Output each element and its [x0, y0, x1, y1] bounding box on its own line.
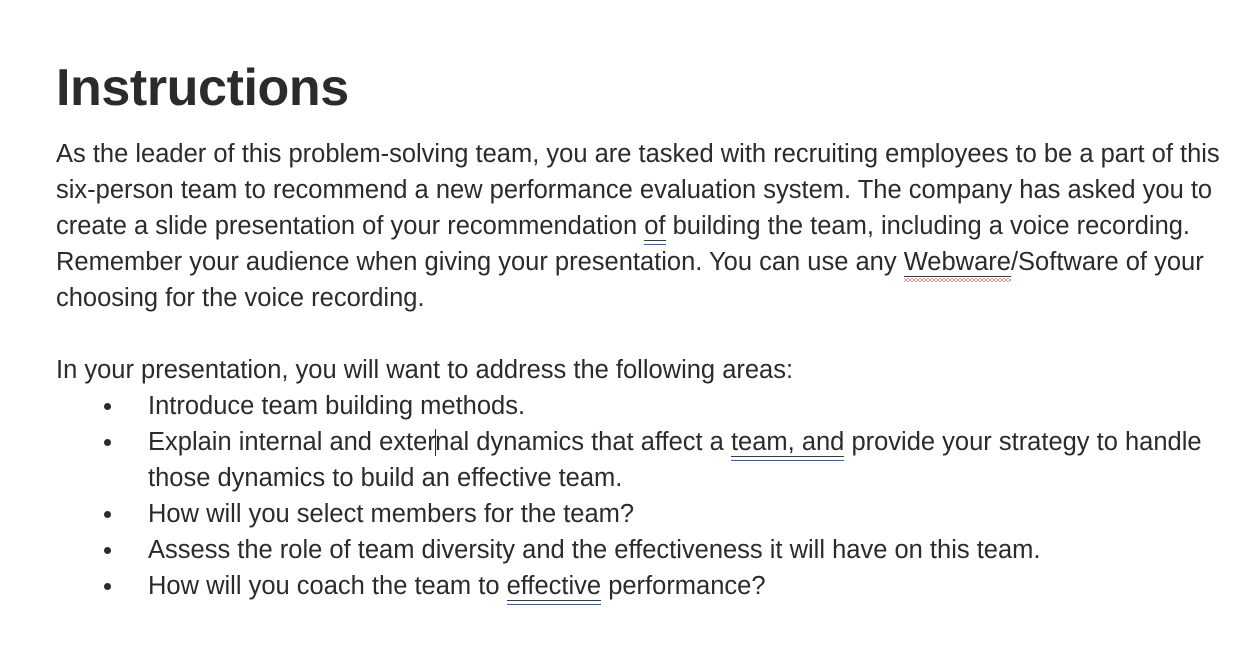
document-page: Instructions As the leader of this probl… — [0, 0, 1253, 651]
bullet-disc-icon — [104, 511, 111, 518]
list-item[interactable]: Explain internal and external dynamics t… — [56, 424, 1236, 496]
list-item-text-part-2: performance? — [601, 572, 765, 600]
bullet-disc-icon — [104, 439, 111, 446]
list-item[interactable]: Assess the role of team diversity and th… — [56, 532, 1236, 568]
document-body[interactable]: As the leader of this problem-solving te… — [56, 136, 1236, 604]
list-item-text: Introduce team building methods. — [148, 392, 525, 420]
spellcheck-marked-word-webware[interactable]: Webware — [904, 248, 1011, 277]
bullet-disc-icon — [104, 547, 111, 554]
bullet-disc-icon — [104, 403, 111, 410]
paragraph-spacer — [56, 316, 1236, 352]
list-item[interactable]: Introduce team building methods. — [56, 388, 1236, 424]
list-item-text: How will you select members for the team… — [148, 500, 634, 528]
lead-in-paragraph[interactable]: In your presentation, you will want to a… — [56, 352, 1236, 388]
list-item-text-part-2: nal dynamics that affect a — [435, 428, 731, 456]
list-item-text-part-1: How will you coach the team to — [148, 572, 507, 600]
intro-paragraph[interactable]: As the leader of this problem-solving te… — [56, 136, 1236, 316]
grammar-marked-word-effective[interactable]: effective — [507, 572, 602, 601]
grammar-marked-phrase-team-and[interactable]: team, and — [731, 428, 844, 457]
page-title: Instructions — [56, 58, 349, 118]
instructions-bullet-list[interactable]: Introduce team building methods. Explain… — [56, 388, 1236, 604]
grammar-marked-word-of[interactable]: of — [644, 212, 665, 241]
list-item[interactable]: How will you select members for the team… — [56, 496, 1236, 532]
list-item[interactable]: How will you coach the team to effective… — [56, 568, 1236, 604]
list-item-text-part-1: Explain internal and exter — [148, 428, 436, 456]
list-item-text: Assess the role of team diversity and th… — [148, 536, 1040, 564]
bullet-disc-icon — [104, 583, 111, 590]
